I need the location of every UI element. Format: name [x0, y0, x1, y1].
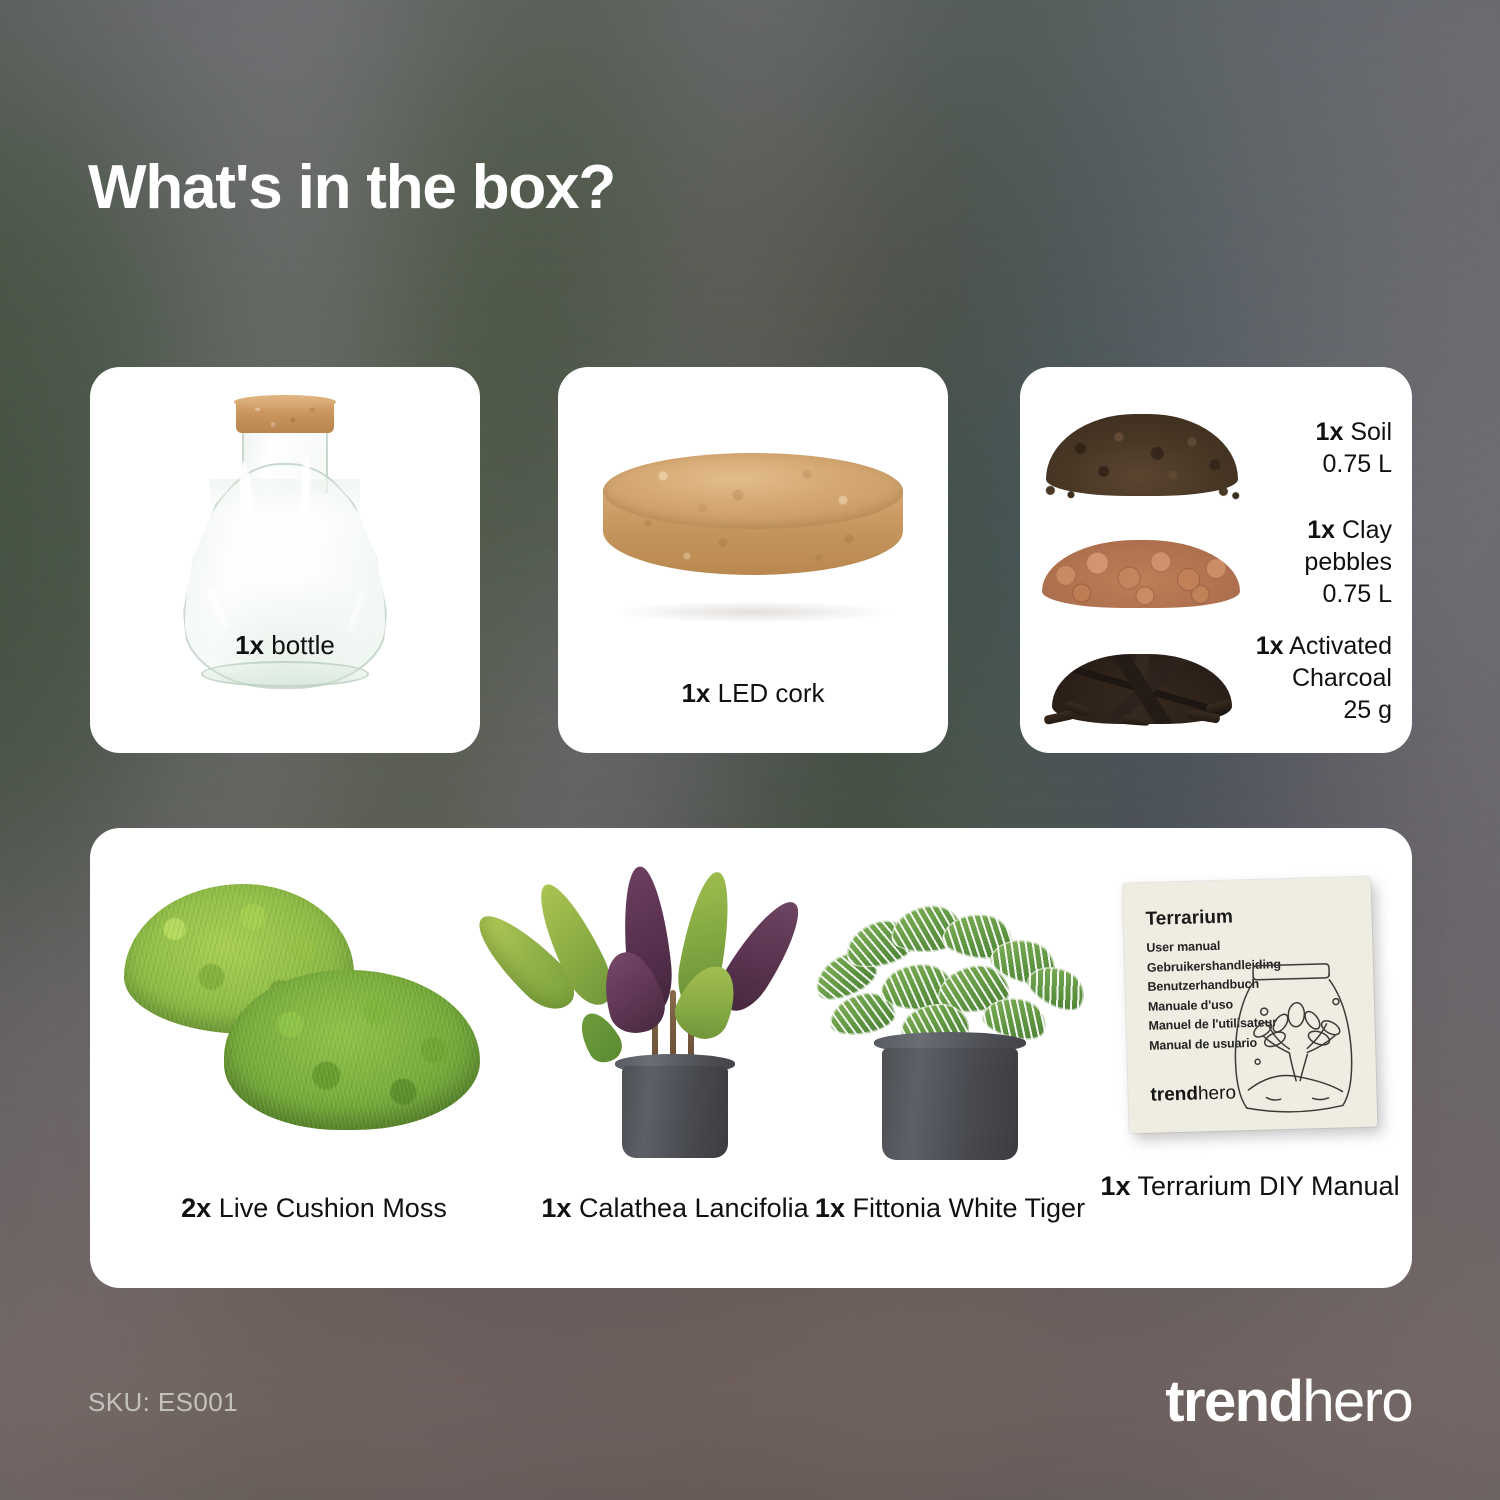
charcoal-amount: 25 g [1343, 696, 1392, 724]
substrate-row-charcoal: 1x Activated Charcoal 25 g [1038, 623, 1392, 733]
product-card-plants[interactable]: 2x Live Cushion Moss [90, 828, 1412, 1288]
product-card-bottle[interactable]: 1x bottle [90, 367, 480, 753]
charcoal-stick [1043, 710, 1074, 725]
brand-logo-light: hero [1302, 1369, 1412, 1434]
manual-brand-logo: trendhero [1150, 1082, 1236, 1106]
cork-qty: 1x [681, 678, 710, 708]
soil-heap-icon [1038, 394, 1244, 502]
product-card-led-cork[interactable]: 1x LED cork [558, 367, 948, 753]
cork-disc-icon [603, 453, 903, 605]
cork-caption: 1x LED cork [558, 677, 948, 711]
bottle-qty: 1x [235, 630, 264, 660]
sku-label: SKU: ES001 [88, 1387, 238, 1418]
manual-image: Terrarium User manual Gebruikershandleid… [1090, 866, 1410, 1166]
fittonia-pot [882, 1048, 1018, 1160]
page-title: What's in the box? [88, 152, 615, 223]
bottle-base [201, 661, 369, 687]
moss-caption: 2x Live Cushion Moss [104, 1190, 524, 1226]
charcoal-stick [1122, 715, 1151, 726]
plant-item-manual[interactable]: Terrarium User manual Gebruikershandleid… [1090, 828, 1410, 1288]
manual-title: Terrarium [1145, 906, 1233, 930]
manual-caption: 1x Terrarium DIY Manual [1090, 1168, 1410, 1204]
substrate-row-soil: 1x Soil 0.75 L [1038, 393, 1392, 503]
soil-name: Soil [1350, 418, 1392, 446]
cork-name: LED cork [718, 678, 825, 708]
calathea-stem [670, 990, 676, 1062]
moss-cushion-icon [224, 970, 480, 1130]
soil-label: 1x Soil 0.75 L [1254, 416, 1392, 480]
soil-crumbs [1038, 476, 1244, 500]
clay-pebbles-label: 1x Clay pebbles 0.75 L [1254, 514, 1392, 610]
fittonia-image [770, 866, 1130, 1166]
manual-logo-light: hero [1198, 1082, 1237, 1104]
calathea-qty: 1x [541, 1193, 571, 1223]
manual-qty: 1x [1100, 1171, 1130, 1201]
moss-texture [224, 970, 480, 1130]
clay-pebbles-icon [1038, 508, 1244, 616]
fittonia-qty: 1x [815, 1193, 845, 1223]
brand-logo: trendhero [1165, 1368, 1412, 1435]
fittonia-foliage [805, 902, 1095, 1048]
manual-logo-bold: trend [1150, 1083, 1198, 1105]
soil-qty: 1x [1316, 418, 1344, 446]
plant-item-fittonia[interactable]: 1x Fittonia White Tiger [770, 828, 1130, 1288]
fittonia-caption: 1x Fittonia White Tiger [770, 1190, 1130, 1226]
bottle-name: bottle [271, 630, 335, 660]
charcoal-name: Activated Charcoal [1289, 632, 1392, 692]
moss-name: Live Cushion Moss [219, 1193, 447, 1223]
charcoal-icon [1038, 624, 1244, 732]
charcoal-qty: 1x [1256, 632, 1284, 660]
clay-qty: 1x [1307, 516, 1335, 544]
clay-amount: 0.75 L [1322, 580, 1392, 608]
moss-image [104, 866, 524, 1166]
bottle-caption: 1x bottle [90, 629, 480, 663]
charcoal-label: 1x Activated Charcoal 25 g [1254, 630, 1392, 726]
charcoal-sticks [1038, 698, 1244, 728]
charcoal-stick [1205, 699, 1232, 715]
manual-booklet-icon: Terrarium User manual Gebruikershandleid… [1123, 877, 1378, 1134]
bottle-cork-top [234, 395, 336, 409]
content-layer: What's in the box? 1x bo [0, 0, 1500, 1500]
soil-amount: 0.75 L [1322, 450, 1392, 478]
infographic-stage: What's in the box? 1x bo [0, 0, 1500, 1500]
fittonia-name: Fittonia White Tiger [852, 1193, 1085, 1223]
cork-image [558, 453, 948, 663]
plant-item-moss[interactable]: 2x Live Cushion Moss [104, 828, 524, 1288]
clay-pebble-mound [1042, 540, 1240, 608]
substrate-row-clay-pebbles: 1x Clay pebbles 0.75 L [1038, 507, 1392, 617]
cork-top-face [603, 453, 903, 529]
calathea-pot [622, 1066, 728, 1158]
moss-qty: 2x [181, 1193, 211, 1223]
manual-name: Terrarium DIY Manual [1137, 1171, 1399, 1201]
brand-logo-bold: trend [1165, 1369, 1302, 1434]
product-card-substrates[interactable]: 1x Soil 0.75 L 1x Clay pebbles 0.75 L [1020, 367, 1412, 753]
